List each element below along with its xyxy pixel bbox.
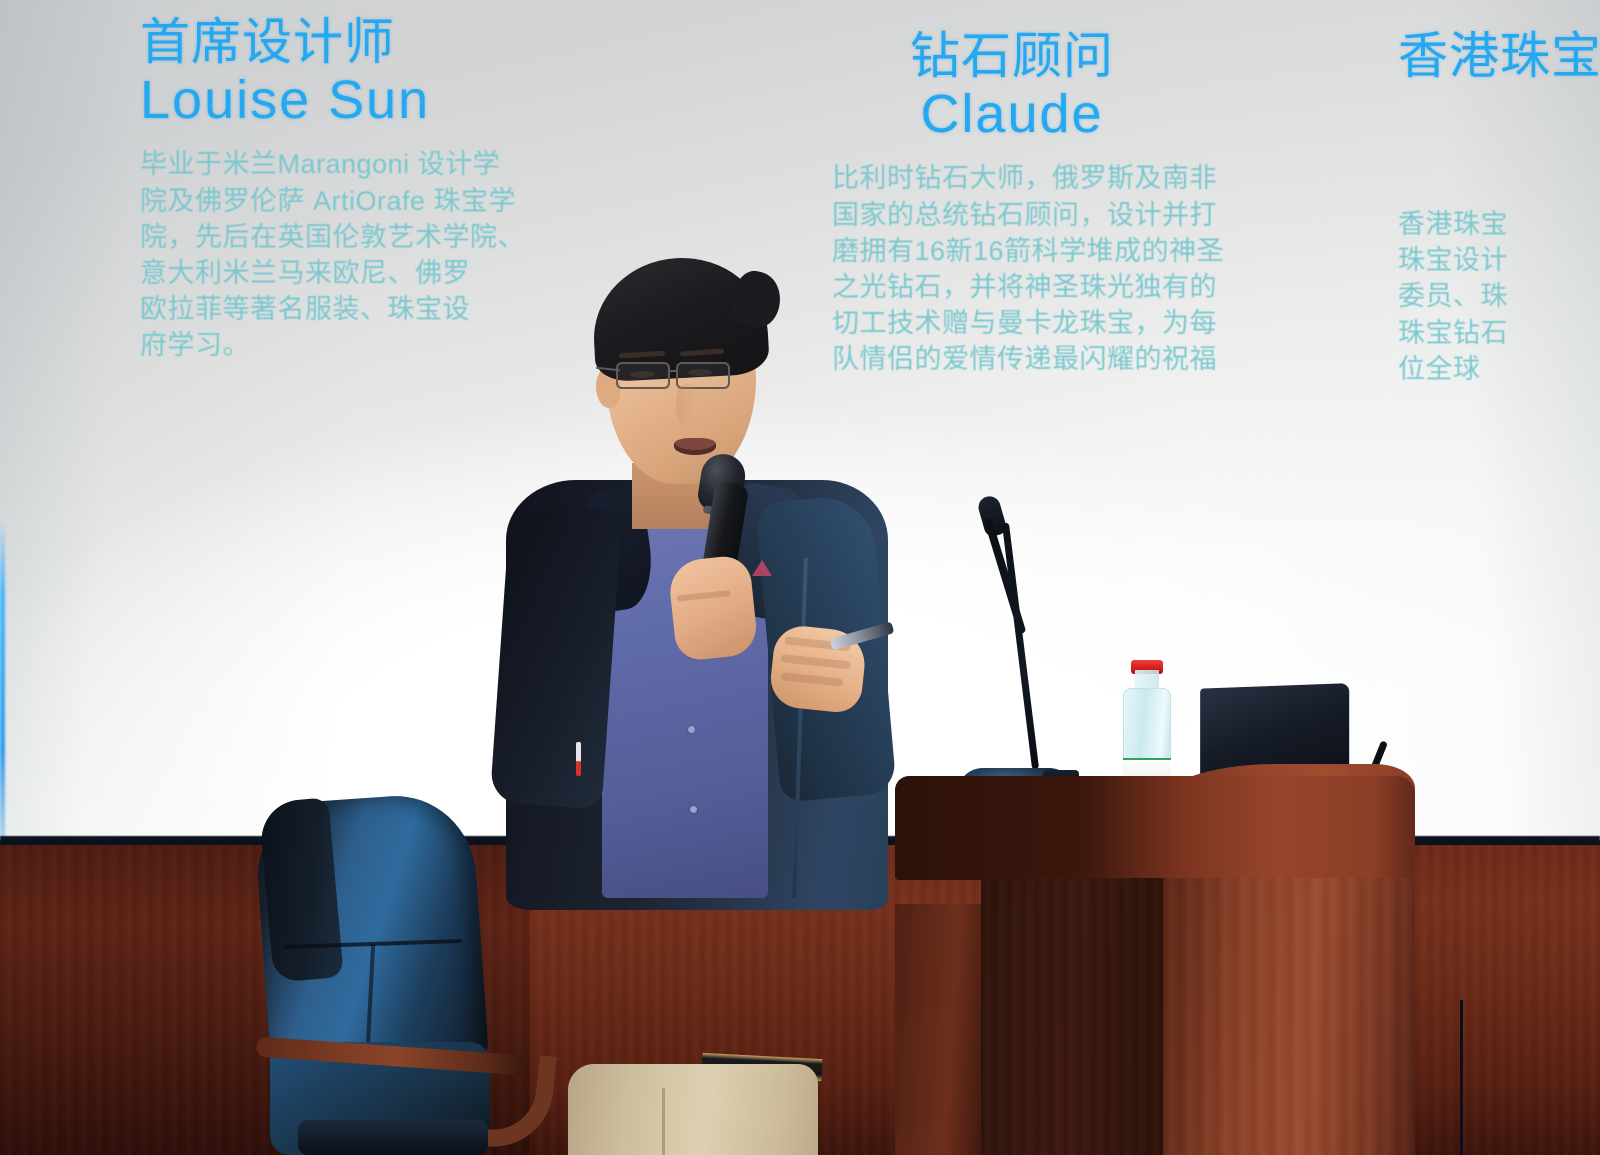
slide-heading-en: Claude xyxy=(832,84,1192,144)
jacket-sleeve-left xyxy=(490,502,623,809)
presenter-figure xyxy=(490,258,910,1155)
glasses-lens-left xyxy=(616,362,670,389)
shirt-button xyxy=(690,806,697,813)
slide-body-line: 珠宝钻石 xyxy=(1398,315,1600,351)
slide-body-line: 比利时钻石大师，俄罗斯及南非 xyxy=(832,160,1332,196)
slide-heading-cn: 香港珠宝 xyxy=(1398,28,1600,84)
lectern-side-left xyxy=(895,904,987,1155)
mouth xyxy=(674,438,716,455)
slide-body-hongkong: 香港珠宝 珠宝设计 委员、珠 珠宝钻石 位全球 xyxy=(1398,206,1600,387)
trouser-crease xyxy=(662,1088,665,1155)
lectern-front-lit xyxy=(1163,878,1415,1155)
slide-body-line: 国家的总统钻石顾问，设计并打 xyxy=(832,197,1332,233)
nose xyxy=(676,384,702,428)
trousers xyxy=(568,1064,818,1155)
lectern-desktop xyxy=(895,776,1415,880)
slide-column-hongkong-jewelry: 香港珠宝 香港珠宝 珠宝设计 委员、珠 珠宝钻石 位全球 xyxy=(1398,28,1600,387)
slide-body-line: 委员、珠 xyxy=(1398,278,1600,314)
slide-body-line: 毕业于米兰Marangoni 设计学 xyxy=(140,146,720,182)
screen-left-edge-glow xyxy=(0,520,5,850)
hanging-cable xyxy=(1460,1000,1463,1155)
slide-body-line: 院，先后在英国伦敦艺术学院、 xyxy=(140,219,720,255)
zipper-pull-pocket xyxy=(576,742,581,776)
slide-body-line: 位全球 xyxy=(1398,351,1600,387)
slide-heading-cn: 钻石顾问 xyxy=(832,28,1192,84)
lectern-front-shadowed xyxy=(981,878,1163,1155)
slide-body-line: 院及佛罗伦萨 ArtiOrafe 珠宝学 xyxy=(140,183,720,219)
slide-body-line: 珠宝设计 xyxy=(1398,242,1600,278)
slide-heading-claude: 钻石顾问 Claude xyxy=(832,28,1192,144)
hand-holding-microphone xyxy=(667,554,759,662)
slide-heading-en: Louise Sun xyxy=(140,70,720,130)
slide-heading-hongkong: 香港珠宝 xyxy=(1398,28,1600,84)
slide-heading-louise-sun: 首席设计师 Louise Sun xyxy=(140,14,720,130)
glasses-bridge xyxy=(670,370,678,372)
presentation-photo: 首席设计师 Louise Sun 毕业于米兰Marangoni 设计学 院及佛罗… xyxy=(0,0,1600,1155)
lectern xyxy=(895,752,1415,1155)
slide-heading-cn: 首席设计师 xyxy=(140,14,720,70)
chair-base xyxy=(298,1120,488,1155)
shirt-button xyxy=(688,726,695,733)
slide-body-line: 香港珠宝 xyxy=(1398,206,1600,242)
